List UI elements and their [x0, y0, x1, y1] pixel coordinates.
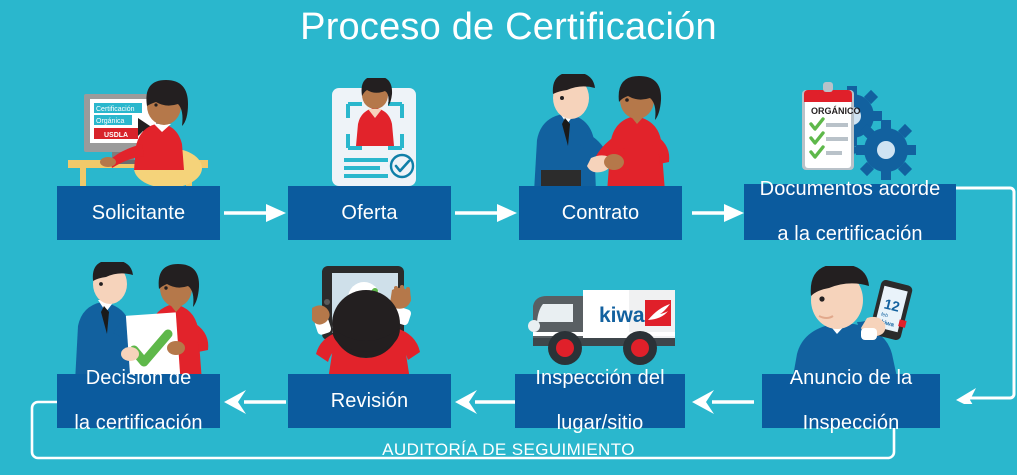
step-box-anuncio[interactable]: Anuncio de la Inspección — [762, 374, 940, 428]
step-box-contrato[interactable]: Contrato — [519, 186, 682, 240]
svg-text:kiwa: kiwa — [599, 304, 645, 327]
step-label-decision: Decisión de la certificación — [62, 367, 214, 434]
step-label-decision-line1: Decisión de — [68, 367, 208, 389]
step-label-inspeccion: Inspección del lugar/sitio — [523, 367, 676, 434]
step-box-inspeccion[interactable]: Inspección del lugar/sitio — [515, 374, 685, 428]
step-label-documentos-line2: a la certificación — [754, 223, 947, 245]
arrow-oferta-to-contrato — [455, 200, 517, 226]
step-box-decision[interactable]: Decisión de la certificación — [57, 374, 220, 428]
step-box-revision[interactable]: Revisión — [288, 374, 451, 428]
step-label-oferta: Oferta — [335, 202, 403, 224]
svg-text:Certificación: Certificación — [96, 106, 135, 113]
arrow-contrato-to-documentos — [692, 200, 744, 226]
step-box-documentos[interactable]: Documentos acorde a la certificación — [744, 184, 956, 240]
step-label-documentos: Documentos acorde a la certificación — [748, 178, 953, 245]
step-label-inspeccion-line2: lugar/sitio — [529, 412, 670, 434]
step-label-contrato: Contrato — [556, 202, 646, 224]
document-profile-check-icon — [318, 78, 428, 190]
infographic-canvas: Proceso de Certificación Certificación O… — [0, 0, 1017, 475]
step-label-documentos-line1: Documentos acorde — [754, 178, 947, 200]
clipboard-gears-icon: ORGÁNICO — [790, 78, 920, 188]
two-people-certificate-icon — [62, 262, 227, 382]
person-with-tablet-icon — [300, 262, 440, 380]
connector-documentos-to-anuncio — [956, 186, 1017, 404]
svg-text:USDLA: USDLA — [104, 132, 128, 139]
svg-text:ORGÁNICO: ORGÁNICO — [811, 106, 861, 116]
delivery-truck-icon: kiwa — [525, 288, 685, 368]
step-label-decision-line2: la certificación — [68, 412, 208, 434]
step-label-anuncio: Anuncio de la Inspección — [778, 367, 925, 434]
arrow-solicitante-to-oferta — [224, 200, 286, 226]
handshake-icon — [515, 74, 685, 192]
step-label-anuncio-line2: Inspección — [784, 412, 919, 434]
person-at-computer-icon: Certificación Orgánica USDLA — [60, 78, 230, 193]
step-label-inspeccion-line1: Inspección del — [529, 367, 670, 389]
person-with-phone-icon: 12 feb kiwa — [775, 266, 935, 382]
page-title: Proceso de Certificación — [0, 6, 1017, 49]
step-label-solicitante: Solicitante — [86, 202, 191, 224]
step-label-revision: Revisión — [325, 390, 415, 412]
step-label-anuncio-line1: Anuncio de la — [784, 367, 919, 389]
step-box-solicitante[interactable]: Solicitante — [57, 186, 220, 240]
audit-loop-label: AUDITORÍA DE SEGUIMIENTO — [0, 440, 1017, 460]
svg-text:Orgánica: Orgánica — [96, 118, 125, 125]
step-box-oferta[interactable]: Oferta — [288, 186, 451, 240]
